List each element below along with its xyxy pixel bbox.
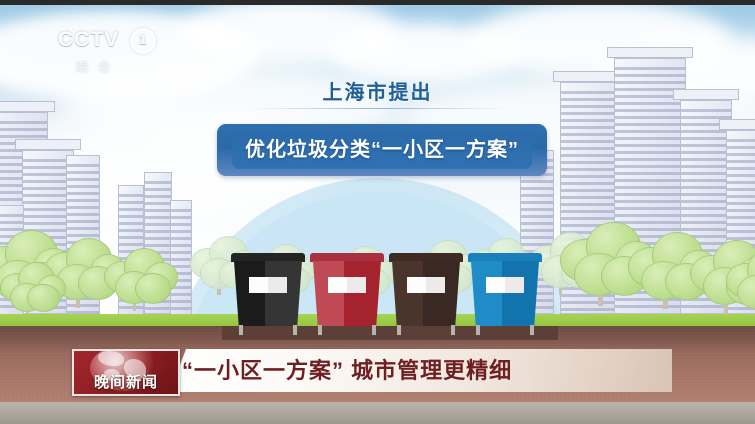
- bin-body: [392, 261, 460, 326]
- bin-shade-left: [313, 261, 344, 326]
- bin-shade-right: [265, 261, 302, 326]
- bin-shade-left: [234, 261, 265, 326]
- globe-landmass: [98, 351, 124, 366]
- building-cap: [607, 47, 693, 58]
- lower-third: “一小区一方案” 城市管理更精细 晚间新闻: [72, 347, 672, 394]
- bin-leg: [239, 325, 243, 335]
- headline-text: “一小区一方案” 城市管理更精细: [182, 349, 672, 392]
- program-name: 晚间新闻: [74, 371, 178, 392]
- broadcast-screen: CCTV 1 综合 上海市提出 优化垃圾分类“一小区一方案” “一小区一方案” …: [0, 0, 755, 424]
- bin-shade-left: [392, 261, 423, 326]
- bin-lid: [231, 253, 305, 262]
- tree: [104, 248, 167, 311]
- bin-leg: [372, 325, 376, 335]
- bin-lid: [468, 253, 542, 262]
- title-banner: 优化垃圾分类“一小区一方案”: [217, 124, 547, 176]
- bin-shade-right: [423, 261, 460, 326]
- bin-shade-left: [471, 261, 502, 326]
- building-cap: [719, 119, 755, 130]
- bin-body: [471, 261, 539, 326]
- bin-blue: [471, 253, 539, 326]
- channel-number: 1: [130, 28, 156, 54]
- bin-shade-right: [502, 261, 539, 326]
- bin-black: [234, 253, 302, 326]
- kicker-divider: [248, 108, 508, 109]
- bin-body: [234, 261, 302, 326]
- title-banner-text: 优化垃圾分类“一小区一方案”: [217, 124, 547, 176]
- kicker-line: 上海市提出: [0, 76, 755, 105]
- building-cap: [15, 139, 81, 150]
- bin-body: [313, 261, 381, 326]
- program-logo: 晚间新闻: [72, 349, 180, 396]
- tree-foliage: [135, 273, 171, 304]
- bin-leg: [476, 325, 480, 335]
- bin-leg: [530, 325, 534, 335]
- bin-shade-right: [344, 261, 381, 326]
- cctv-logo-icon: CCTV 1 综合: [58, 28, 168, 78]
- channel-sub-label: 综合: [58, 58, 168, 75]
- bin-label: [486, 277, 524, 294]
- bin-leg: [451, 325, 455, 335]
- cctv-logo-text: CCTV: [58, 28, 119, 51]
- tree: [726, 250, 755, 317]
- bin-lid: [310, 253, 384, 262]
- bin-label: [407, 277, 445, 294]
- kicker-text: 上海市提出: [323, 82, 433, 104]
- letterbox-top: [0, 0, 755, 5]
- bin-red: [313, 253, 381, 326]
- letterbox-bottom: [0, 402, 755, 424]
- bin-brown: [392, 253, 460, 326]
- bin-leg: [318, 325, 322, 335]
- bin-label: [249, 277, 287, 294]
- bin-leg: [293, 325, 297, 335]
- bin-label: [328, 277, 366, 294]
- tree-foliage: [27, 284, 59, 312]
- bin-leg: [397, 325, 401, 335]
- bin-lid: [389, 253, 463, 262]
- building: [170, 200, 192, 315]
- bin-platform: [222, 326, 558, 340]
- tree: [0, 262, 56, 318]
